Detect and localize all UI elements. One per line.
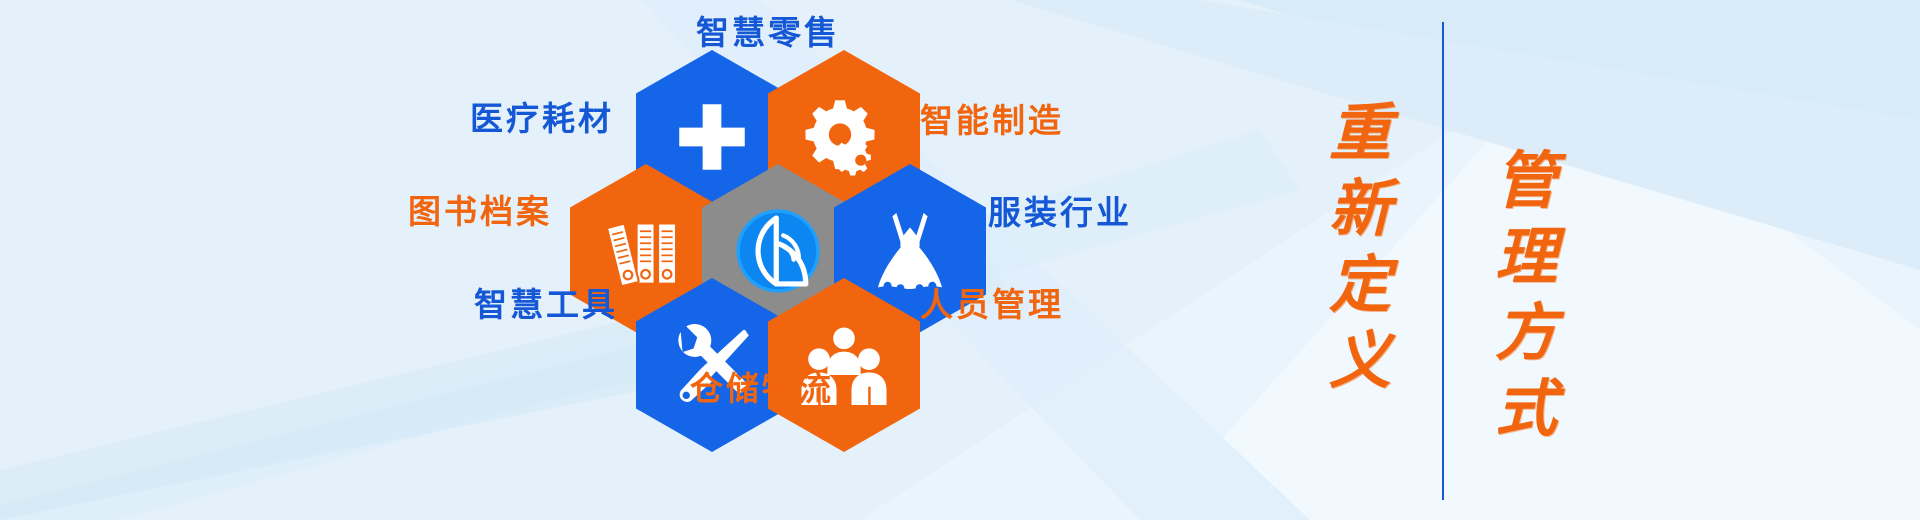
dress-icon xyxy=(870,205,950,297)
calligraphy-char: 定 xyxy=(1329,254,1391,316)
gears-icon xyxy=(800,95,888,179)
rfid-wave-logo-icon xyxy=(726,199,830,303)
label-staff-management: 人员管理 xyxy=(920,288,1064,321)
binders-icon xyxy=(603,208,689,294)
label-smart-tools: 智慧工具 xyxy=(474,288,618,321)
calligraphy-char: 重 xyxy=(1329,102,1391,164)
label-warehouse-logistics: 仓储物流 xyxy=(690,372,834,405)
calligraphy-char: 义 xyxy=(1329,330,1391,392)
calligraphy-column-right: 管 理 方 式 xyxy=(1456,0,1596,520)
calligraphy-divider xyxy=(1442,22,1444,500)
calligraphy-block: 重 新 定 义 管 理 方 式 xyxy=(1290,0,1620,520)
calligraphy-column-left: 重 新 定 义 xyxy=(1290,0,1430,520)
label-smart-manufacturing: 智能制造 xyxy=(920,104,1064,137)
label-medical-supplies: 医疗耗材 xyxy=(470,102,614,135)
calligraphy-char: 管 xyxy=(1495,150,1557,212)
banner-root: 智慧零售 医疗耗材 智能制造 图书档案 服装行业 智慧工具 人员管理 仓储物流 … xyxy=(0,0,1920,520)
medical-cross-icon xyxy=(673,98,751,176)
calligraphy-char: 新 xyxy=(1329,178,1391,240)
label-smart-retail: 智慧零售 xyxy=(696,16,840,49)
calligraphy-char: 方 xyxy=(1495,302,1557,364)
label-apparel-industry: 服装行业 xyxy=(988,196,1132,229)
calligraphy-char: 式 xyxy=(1495,378,1557,440)
calligraphy-char: 理 xyxy=(1495,226,1557,288)
label-books-archives: 图书档案 xyxy=(408,195,552,228)
